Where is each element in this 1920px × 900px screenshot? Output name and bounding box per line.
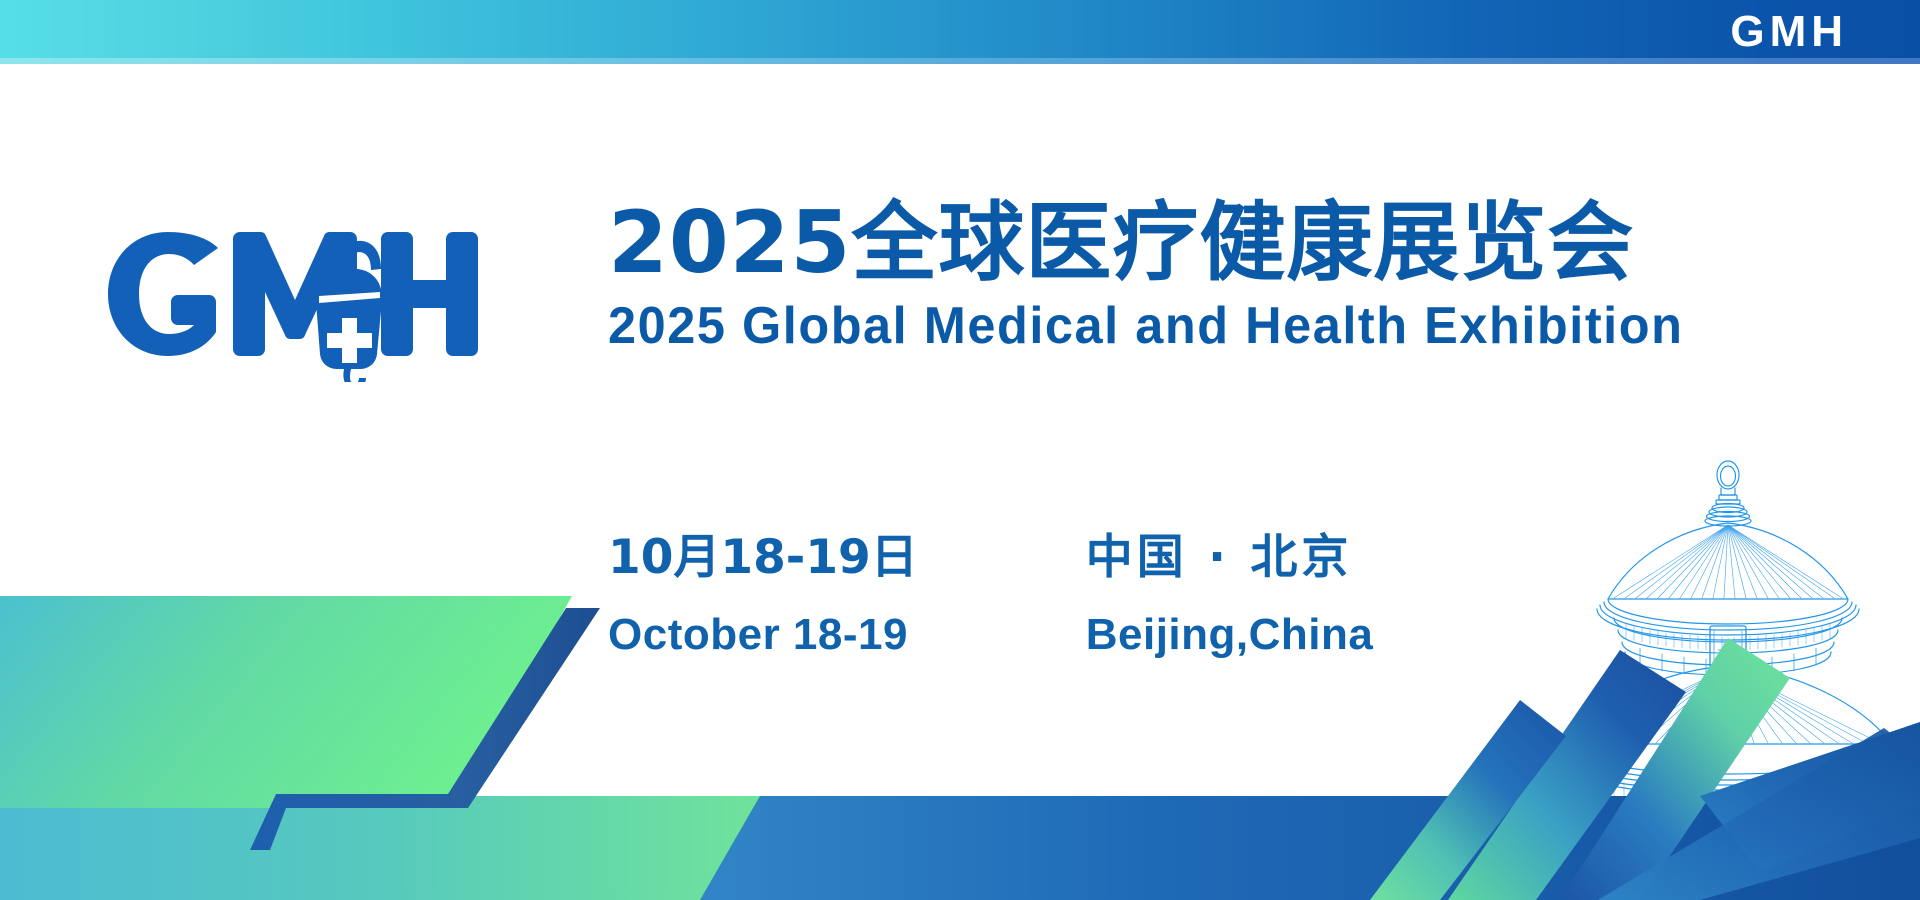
top-bar-shadow — [0, 58, 1920, 64]
event-date: 10月18-19日 October 18-19 — [608, 534, 918, 657]
place-chinese: 中国 · 北京 — [1086, 534, 1374, 581]
event-place: 中国 · 北京 Beijing,China — [1086, 534, 1374, 657]
temple-of-heaven-icon — [1528, 452, 1920, 900]
gmh-logo — [108, 232, 478, 382]
top-bar-brand: GMH — [1730, 10, 1848, 54]
title-chinese: 2025全球医疗健康展览会 — [608, 200, 1717, 286]
date-english: October 18-19 — [608, 613, 918, 657]
place-english: Beijing,China — [1086, 613, 1374, 657]
event-info: 10月18-19日 October 18-19 中国 · 北京 Beijing,… — [608, 534, 1373, 657]
date-chinese: 10月18-19日 — [608, 534, 918, 581]
event-banner: GMH — [0, 0, 1920, 900]
top-bar: GMH — [0, 0, 1920, 64]
title-english: 2025 Global Medical and Health Exhibitio… — [608, 300, 1683, 352]
title-block: 2025全球医疗健康展览会 2025 Global Medical and He… — [608, 200, 1717, 352]
